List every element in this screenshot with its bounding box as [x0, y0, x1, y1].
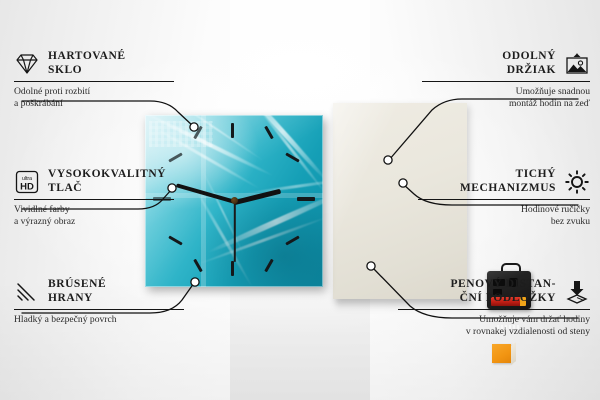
feature-description: Hodinové ručičky bez zvuku	[418, 204, 590, 227]
feature-header: HARTOVANÉ SKLO	[14, 50, 174, 77]
feature-title: TICHÝ MECHANIZMUS	[460, 168, 556, 195]
feature-header: PENOVÝ DISTAN- ČNÍ PODLOŽKY	[398, 278, 590, 305]
divider	[422, 81, 590, 82]
feature-title: PENOVÝ DISTAN- ČNÍ PODLOŽKY	[450, 278, 556, 305]
svg-text:HD: HD	[20, 181, 34, 192]
connector-dot-foam	[367, 262, 375, 270]
feature-foam-spacers: PENOVÝ DISTAN- ČNÍ PODLOŽKY Umožňuje vám…	[398, 278, 590, 337]
picture-frame-hanger-icon	[564, 51, 590, 77]
connector-dot-hanger	[384, 156, 392, 164]
gear-icon	[564, 169, 590, 195]
feature-description: Hladký a bezpečný povrch	[14, 314, 184, 326]
feature-header: ultra HD VYSOKOKVALITNÝ TLAČ	[14, 168, 174, 195]
feature-description: Odolné proti rozbití a poškrábání	[14, 86, 174, 109]
spacer-pad-icon	[564, 279, 590, 305]
feature-title: ODOLNÝ DRŽIAK	[502, 50, 556, 77]
diamond-icon	[14, 51, 40, 77]
feature-title: VYSOKOKVALITNÝ TLAČ	[48, 168, 166, 195]
divider	[14, 309, 184, 310]
feature-title: HARTOVANÉ SKLO	[48, 50, 126, 77]
feature-description: Umožňuje snadnou montáž hodin na zeď	[422, 86, 590, 109]
feature-header: BRÚSENÉ HRANY	[14, 278, 184, 305]
divider	[418, 199, 590, 200]
divider	[398, 309, 590, 310]
feature-title: BRÚSENÉ HRANY	[48, 278, 106, 305]
feature-description: Umožňuje vám držať hodiny v rovnakej vzd…	[398, 314, 590, 337]
divider	[14, 199, 174, 200]
divider	[14, 81, 174, 82]
infographic-canvas: HARTOVANÉ SKLO Odolné proti rozbití a po…	[0, 0, 600, 400]
connector-dot-edges	[191, 278, 199, 286]
feature-header: TICHÝ MECHANIZMUS	[418, 168, 590, 195]
feature-durable-hanger: ODOLNÝ DRŽIAK Umožňuje snadnou montáž ho…	[422, 50, 590, 109]
ground-edges-icon	[14, 279, 40, 305]
feature-description: Vividlné farby a výrazný obraz	[14, 204, 174, 227]
ultra-hd-icon: ultra HD	[14, 169, 40, 195]
connector-dot-tempered-glass	[190, 123, 198, 131]
connector-dot-mechanism	[399, 179, 407, 187]
feature-tempered-glass: HARTOVANÉ SKLO Odolné proti rozbití a po…	[14, 50, 174, 109]
feature-header: ODOLNÝ DRŽIAK	[422, 50, 590, 77]
feature-silent-mechanism: TICHÝ MECHANIZMUS Hodinové ručičky bez	[418, 168, 590, 227]
feature-polished-edges: BRÚSENÉ HRANY Hladký a bezpečný povrch	[14, 278, 184, 326]
feature-high-quality-print: ultra HD VYSOKOKVALITNÝ TLAČ Vividlné fa…	[14, 168, 174, 227]
